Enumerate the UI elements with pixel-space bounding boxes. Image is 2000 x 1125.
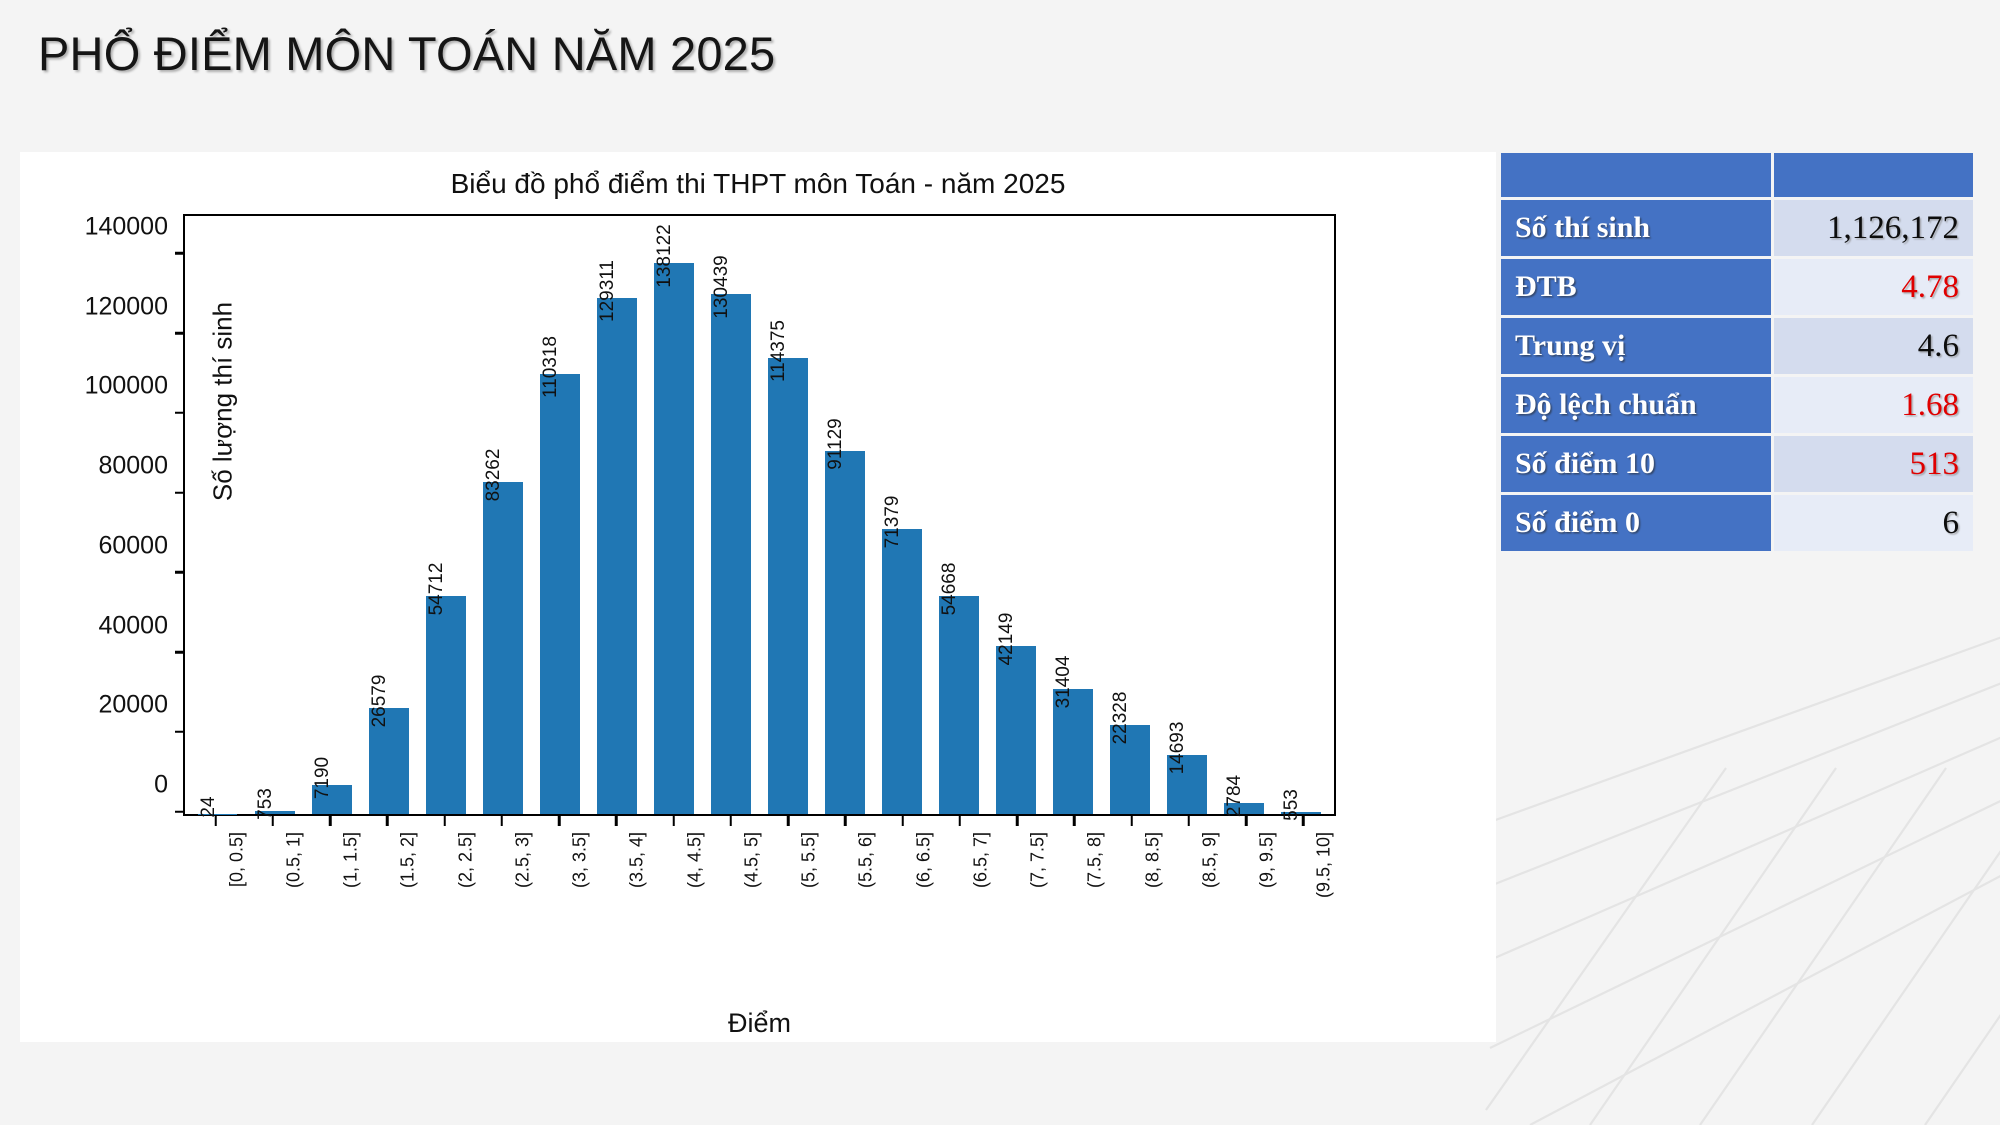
bar-value-label: 26579 — [370, 675, 389, 728]
x-axis-tick: [0, 0.5] — [187, 816, 244, 1016]
x-axis-tick-mark — [672, 816, 675, 826]
bar-slot: 26579 — [360, 216, 417, 814]
bar-value-label: 91129 — [826, 418, 845, 469]
x-axis-tick: (3.5, 4] — [588, 816, 645, 1016]
bar-value-label: 7190 — [313, 757, 332, 799]
stat-label: Số điểm 10 — [1501, 436, 1771, 492]
bar[interactable]: 71379 — [882, 529, 922, 814]
y-axis-tick-label: 140000 — [85, 212, 185, 241]
x-axis-tick: (6.5, 7] — [931, 816, 988, 1016]
bar[interactable]: 138122 — [654, 263, 694, 814]
x-axis-tick-mark — [1188, 816, 1191, 826]
x-axis-tick-mark — [959, 816, 962, 826]
y-axis-tick-mark — [175, 412, 185, 415]
bar-value-label: 138122 — [655, 225, 674, 288]
bar-slot: 24 — [189, 216, 246, 814]
bar-value-label: 71379 — [883, 496, 902, 549]
x-axis-ticks: [0, 0.5](0.5, 1](1, 1.5](1.5, 2](2, 2.5]… — [183, 816, 1336, 1016]
bar-slot: 22328 — [1102, 216, 1159, 814]
bar[interactable]: 753 — [255, 811, 295, 814]
bar[interactable]: 130439 — [711, 294, 751, 814]
bar[interactable]: 14693 — [1167, 755, 1207, 814]
bar-slot: 110318 — [531, 216, 588, 814]
y-axis-tick-label: 100000 — [85, 372, 185, 401]
bar[interactable]: 91129 — [825, 451, 865, 814]
bar-value-label: 54668 — [940, 563, 959, 616]
bar-value-label: 2784 — [1225, 775, 1244, 817]
x-axis-tick-mark — [558, 816, 561, 826]
x-axis-tick-label: (9.5, 10] — [1314, 832, 1335, 898]
y-axis-tick-label: 80000 — [98, 452, 185, 481]
bar-value-label: 129311 — [598, 260, 617, 322]
bar-slot: 54668 — [931, 216, 988, 814]
x-axis-label: Điểm — [183, 1008, 1336, 1039]
x-axis-tick: (7, 7.5] — [989, 816, 1046, 1016]
y-axis-tick-label: 120000 — [85, 292, 185, 321]
bar-slot: 91129 — [817, 216, 874, 814]
stat-value: 1.68 — [1774, 377, 1973, 433]
y-axis-tick-mark — [175, 731, 185, 734]
bar-slot: 42149 — [988, 216, 1045, 814]
bar[interactable]: 26579 — [369, 708, 409, 814]
table-row: ĐTB4.78 — [1501, 259, 1973, 315]
x-axis-tick: (5, 5.5] — [760, 816, 817, 1016]
stat-value: 6 — [1774, 495, 1973, 551]
bar[interactable]: 114375 — [768, 358, 808, 814]
stat-label: Số thí sinh — [1501, 200, 1771, 256]
bar[interactable]: 54712 — [426, 596, 466, 814]
y-axis-tick-mark — [175, 491, 185, 494]
stat-label: ĐTB — [1501, 259, 1771, 315]
table-row: Độ lệch chuẩn1.68 — [1501, 377, 1973, 433]
stat-value: 4.78 — [1774, 259, 1973, 315]
x-axis-tick-mark — [615, 816, 618, 826]
y-axis-tick-mark — [175, 332, 185, 335]
x-axis-tick-mark — [730, 816, 733, 826]
bar-slot: 14693 — [1159, 216, 1216, 814]
table-row: Số điểm 06 — [1501, 495, 1973, 551]
bar-value-label: 24 — [199, 796, 218, 817]
y-axis-tick-mark — [175, 252, 185, 255]
bar[interactable]: 110318 — [540, 374, 580, 814]
x-axis-tick-mark — [329, 816, 332, 826]
x-axis-tick: (1.5, 2] — [359, 816, 416, 1016]
stat-value: 1,126,172 — [1774, 200, 1973, 256]
y-axis-tick-label: 60000 — [98, 531, 185, 560]
statistics-table: Số thí sinh1,126,172ĐTB4.78Trung vị4.6Độ… — [1498, 150, 1976, 554]
table-header-cell — [1774, 153, 1973, 197]
table-row: Số điểm 10513 — [1501, 436, 1973, 492]
table-row: Trung vị4.6 — [1501, 318, 1973, 374]
x-axis-tick: (8.5, 9] — [1160, 816, 1217, 1016]
x-axis-tick: (5.5, 6] — [817, 816, 874, 1016]
x-axis-tick-mark — [443, 816, 446, 826]
x-axis-tick: (8, 8.5] — [1103, 816, 1160, 1016]
table-header-cell — [1501, 153, 1771, 197]
x-axis-tick: (9.5, 10] — [1275, 816, 1332, 1016]
bar[interactable]: 83262 — [483, 482, 523, 814]
bar[interactable]: 31404 — [1053, 689, 1093, 814]
page-title: PHỔ ĐIỂM MÔN TOÁN NĂM 2025 — [38, 26, 775, 81]
x-axis-tick-mark — [1130, 816, 1133, 826]
bar-slot: 2784 — [1216, 216, 1273, 814]
bar-slot: 114375 — [759, 216, 816, 814]
chart-plot-area: Số lượng thí sinh 0200004000060000800001… — [183, 214, 1336, 816]
x-axis-tick: (4.5, 5] — [702, 816, 759, 1016]
stat-value: 4.6 — [1774, 318, 1973, 374]
x-axis-tick: (1, 1.5] — [302, 816, 359, 1016]
y-axis-tick-label: 0 — [154, 771, 185, 800]
bar-value-label: 42149 — [997, 613, 1016, 666]
bar-slot: 553 — [1273, 216, 1330, 814]
table-header-row — [1501, 153, 1973, 197]
x-axis-tick-mark — [787, 816, 790, 826]
bar[interactable]: 42149 — [996, 646, 1036, 814]
bar[interactable]: 129311 — [597, 298, 637, 814]
bar-series: 2475371902657954712832621103181293111381… — [185, 216, 1334, 814]
x-axis-tick-mark — [844, 816, 847, 826]
bar-slot: 7190 — [303, 216, 360, 814]
bar[interactable]: 54668 — [939, 596, 979, 814]
x-axis-tick-mark — [901, 816, 904, 826]
x-axis-tick: (7.5, 8] — [1046, 816, 1103, 1016]
stat-label: Độ lệch chuẩn — [1501, 377, 1771, 433]
bar-value-label: 114375 — [769, 320, 788, 382]
bar-slot: 71379 — [874, 216, 931, 814]
bar-slot: 138122 — [645, 216, 702, 814]
stat-value: 513 — [1774, 436, 1973, 492]
bar-value-label: 110318 — [541, 336, 560, 398]
bar-slot: 130439 — [702, 216, 759, 814]
y-axis-tick-label: 20000 — [98, 691, 185, 720]
x-axis-tick-mark — [1302, 816, 1305, 826]
bar-value-label: 31404 — [1054, 655, 1073, 708]
bar-slot: 54712 — [417, 216, 474, 814]
x-axis-tick-mark — [1073, 816, 1076, 826]
bar-value-label: 83262 — [484, 449, 503, 502]
x-axis-tick-mark — [214, 816, 217, 826]
x-axis-tick: (9, 9.5] — [1218, 816, 1275, 1016]
chart-title: Biểu đồ phổ điểm thi THPT môn Toán - năm… — [20, 168, 1496, 200]
y-axis-tick-mark — [175, 810, 185, 813]
bar-slot: 753 — [246, 216, 303, 814]
x-axis-tick-mark — [272, 816, 275, 826]
bar-slot: 83262 — [474, 216, 531, 814]
bar-slot: 31404 — [1045, 216, 1102, 814]
x-axis-tick: (4, 4.5] — [645, 816, 702, 1016]
x-axis-tick: (0.5, 1] — [244, 816, 301, 1016]
bar[interactable]: 22328 — [1110, 725, 1150, 814]
bar-value-label: 14693 — [1168, 722, 1187, 775]
y-axis-tick-mark — [175, 651, 185, 654]
bar-value-label: 22328 — [1111, 692, 1130, 745]
chart-panel: Biểu đồ phổ điểm thi THPT môn Toán - năm… — [20, 152, 1496, 1042]
stat-label: Số điểm 0 — [1501, 495, 1771, 551]
bar-slot: 129311 — [588, 216, 645, 814]
bar-value-label: 54712 — [427, 562, 446, 615]
bar[interactable]: 2784 — [1224, 803, 1264, 814]
x-axis-tick: (2, 2.5] — [416, 816, 473, 1016]
x-axis-tick-mark — [501, 816, 504, 826]
bar-value-label: 130439 — [712, 255, 731, 318]
stat-label: Trung vị — [1501, 318, 1771, 374]
x-axis-tick: (6, 6.5] — [874, 816, 931, 1016]
x-axis-tick-mark — [1016, 816, 1019, 826]
y-axis-tick-label: 40000 — [98, 611, 185, 640]
bar[interactable]: 7190 — [312, 785, 352, 814]
x-axis-tick-mark — [1245, 816, 1248, 826]
y-axis-tick-mark — [175, 571, 185, 574]
table-row: Số thí sinh1,126,172 — [1501, 200, 1973, 256]
bar[interactable]: 553 — [1281, 812, 1321, 814]
x-axis-tick: (2.5, 3] — [473, 816, 530, 1016]
x-axis-tick: (3, 3.5] — [531, 816, 588, 1016]
x-axis-tick-mark — [386, 816, 389, 826]
